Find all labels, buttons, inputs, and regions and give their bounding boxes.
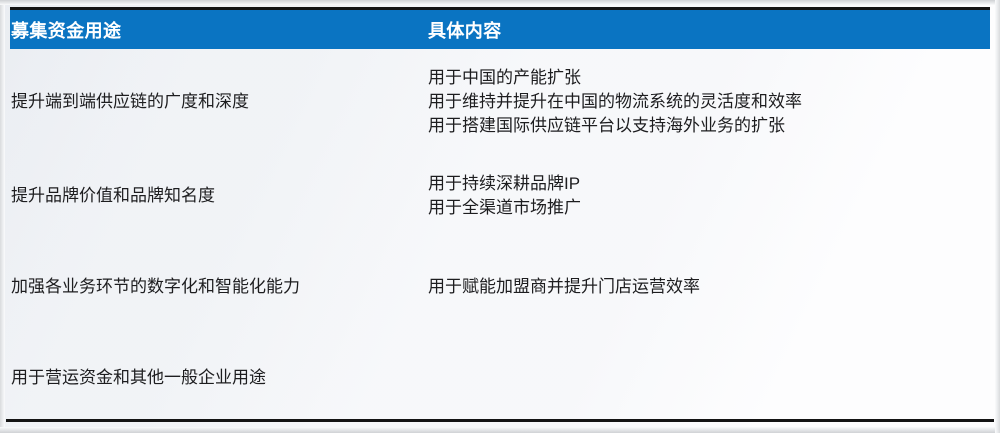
column-header-use-label: 募集资金用途 <box>11 17 121 43</box>
cell-text-line: 用于全渠道市场推广 <box>428 196 581 220</box>
cell-text-line: 用于赋能加盟商并提升门店运营效率 <box>428 275 700 299</box>
table-row-2-use: 提升品牌价值和品牌知名度 <box>11 184 215 208</box>
table-row-4-use: 用于营运资金和其他一般企业用途 <box>11 366 266 390</box>
cell-text: 用于营运资金和其他一般企业用途 <box>11 366 266 390</box>
table-row-3-detail: 用于赋能加盟商并提升门店运营效率 <box>428 275 700 299</box>
document-page: 募集资金用途 具体内容 提升端到端供应链的广度和深度 用于中国的产能扩张 用于维… <box>0 0 1000 433</box>
cell-text-line: 用于中国的产能扩张 <box>428 66 802 90</box>
cell-text-line: 用于维持并提升在中国的物流系统的灵活度和效率 <box>428 90 802 114</box>
table-row-1-use: 提升端到端供应链的广度和深度 <box>11 90 249 114</box>
page-edge-top <box>0 0 1000 5</box>
column-header-detail: 具体内容 <box>428 10 502 49</box>
cell-text-line: 用于搭建国际供应链平台以支持海外业务的扩张 <box>428 114 802 138</box>
table-bottom-rule <box>6 419 994 422</box>
table-row-1-detail: 用于中国的产能扩张 用于维持并提升在中国的物流系统的灵活度和效率 用于搭建国际供… <box>428 66 802 138</box>
cell-text-line: 用于持续深耕品牌IP <box>428 172 581 196</box>
table-row-2-detail: 用于持续深耕品牌IP 用于全渠道市场推广 <box>428 172 581 220</box>
page-edge-bottom <box>0 427 1000 433</box>
cell-text: 加强各业务环节的数字化和智能化能力 <box>11 275 300 299</box>
column-header-use: 募集资金用途 <box>11 10 121 49</box>
column-header-detail-label: 具体内容 <box>428 17 502 43</box>
table-row-3-use: 加强各业务环节的数字化和智能化能力 <box>11 275 300 299</box>
cell-text: 提升品牌价值和品牌知名度 <box>11 184 215 208</box>
cell-text: 提升端到端供应链的广度和深度 <box>11 90 249 114</box>
